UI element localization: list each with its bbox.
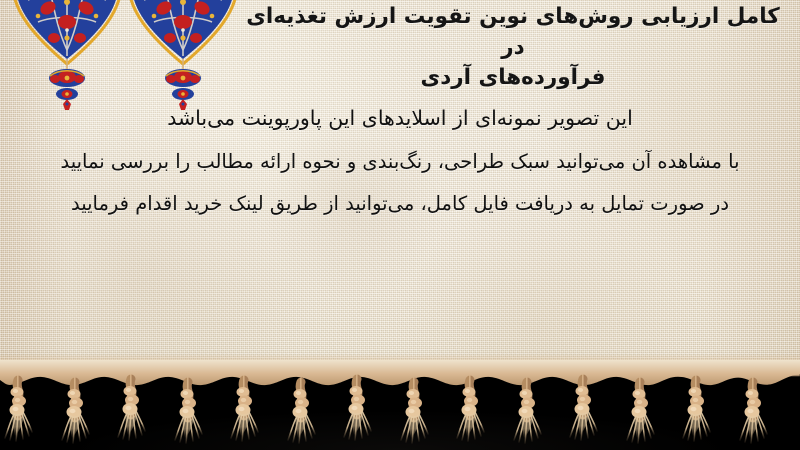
slide-title: کامل ارزیابی روش‌های نوین تقویت ارزش تغذ…: [236, 2, 790, 94]
slide-body: این تصویر نمونه‌ای از اسلایدهای این پاور…: [14, 108, 786, 214]
body-line-1: این تصویر نمونه‌ای از اسلایدهای این پاور…: [14, 108, 786, 129]
bottom-black-band: [0, 368, 800, 450]
slide-title-line-1: کامل ارزیابی روش‌های نوین تقویت ارزش تغذ…: [236, 2, 790, 63]
body-line-3: در صورت تمایل به دریافت فایل کامل، می‌تو…: [14, 194, 786, 214]
slide-canvas: کامل ارزیابی روش‌های نوین تقویت ارزش تغذ…: [0, 0, 800, 450]
carpet-selvedge-edge: [0, 354, 800, 376]
body-line-2: با مشاهده آن می‌توانید سبک طراحی، رنگ‌بن…: [14, 152, 786, 172]
persian-medallion-ornament-right: [124, 0, 242, 110]
persian-medallion-ornament-left: [8, 0, 126, 110]
slide-title-line-2: فرآورده‌های آردی: [236, 63, 790, 94]
